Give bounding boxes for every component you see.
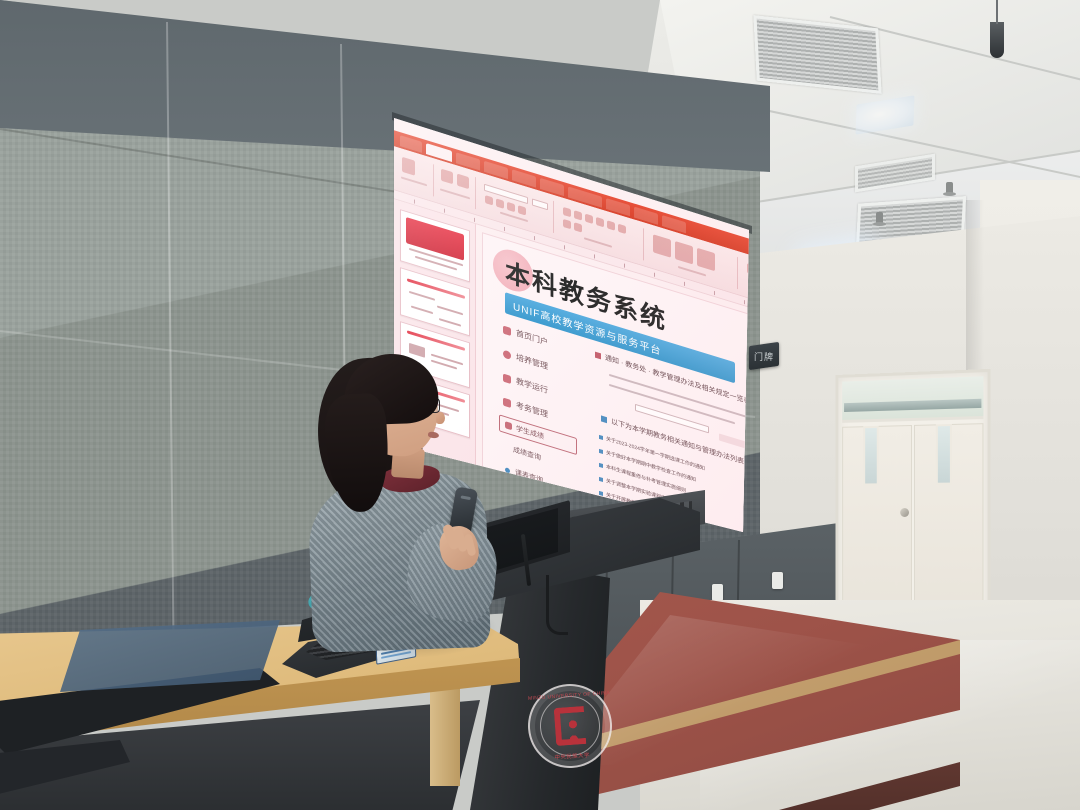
align-right-icon[interactable] xyxy=(618,224,626,234)
bullets-icon[interactable] xyxy=(563,207,571,217)
door-transom-bar xyxy=(844,399,981,412)
room-number-sign: 门牌 xyxy=(749,342,779,370)
door-transom xyxy=(842,376,983,423)
door-vision-panel xyxy=(936,424,952,485)
slide-menu-label: 考务管理 xyxy=(516,400,548,421)
bullet-square-icon xyxy=(595,352,601,360)
wall-outlet[interactable] xyxy=(772,572,783,589)
slide-menu-box-label: 公共查询 xyxy=(516,491,544,510)
podium-university-emblem: MINZU UNIVERSITY OF CHINA 中央民族大学 xyxy=(525,681,615,771)
paste-icon[interactable] xyxy=(402,157,415,176)
ppt-group-clipboard[interactable] xyxy=(398,154,434,197)
sprinkler-icon xyxy=(876,212,883,224)
university-seal-icon xyxy=(554,706,587,746)
home-icon xyxy=(503,325,511,335)
door-handle[interactable] xyxy=(900,508,909,517)
find-icon[interactable] xyxy=(747,263,749,276)
slide-menu-sub-0: 成绩查询 xyxy=(513,445,541,464)
wall-outlet[interactable] xyxy=(712,584,723,601)
align-center-icon[interactable] xyxy=(607,220,615,230)
slide-menu-label: 教学运行 xyxy=(516,376,548,397)
line-spacing-icon[interactable] xyxy=(563,219,571,229)
lectern-cable xyxy=(546,575,568,635)
group-label xyxy=(584,237,612,248)
new-slide-icon[interactable] xyxy=(441,169,453,185)
slide-menu-box-0: 学生成绩 xyxy=(499,414,577,455)
numbering-icon[interactable] xyxy=(574,210,582,220)
sprinkler-icon xyxy=(946,182,953,194)
slide-menu-box-label: 学生成绩 xyxy=(516,423,544,442)
desk-leg xyxy=(430,676,460,786)
layout-icon[interactable] xyxy=(457,174,469,190)
bullet-square-icon xyxy=(601,415,607,423)
slide-menu-label: 首页门户 xyxy=(516,328,548,349)
slide-menu-sub-label: 成绩查询 xyxy=(513,445,541,464)
room-number-sign-label: 门牌 xyxy=(754,350,774,363)
columns-icon[interactable] xyxy=(574,222,582,232)
arrange-icon[interactable] xyxy=(675,241,693,264)
ppt-group-slides[interactable] xyxy=(436,165,476,209)
air-vent-icon xyxy=(753,15,881,94)
presenter xyxy=(300,348,510,648)
door-vision-panel xyxy=(863,426,878,486)
group-label xyxy=(440,188,470,199)
slide-menu-sub-label: 课表查询 xyxy=(515,467,543,486)
slide-menu-label: 培养管理 xyxy=(516,352,548,373)
font-size-box[interactable] xyxy=(532,198,548,210)
underline-icon[interactable] xyxy=(507,202,515,212)
shapes-icon[interactable] xyxy=(653,234,671,257)
group-label xyxy=(678,266,706,277)
hanging-speaker-icon xyxy=(990,22,1004,58)
text-color-icon[interactable] xyxy=(518,205,526,215)
align-left-icon[interactable] xyxy=(596,217,604,227)
bold-icon[interactable] xyxy=(485,195,493,205)
lecture-hall-scene: 门牌 xyxy=(0,0,1080,810)
indent-icon[interactable] xyxy=(585,214,593,224)
quick-styles-icon[interactable] xyxy=(697,248,715,271)
italic-icon[interactable] xyxy=(496,198,504,208)
slide-menu-item-0: 首页门户 xyxy=(503,324,548,349)
group-label xyxy=(401,176,427,186)
slide-menu-sub-1: 课表查询 xyxy=(505,464,543,486)
